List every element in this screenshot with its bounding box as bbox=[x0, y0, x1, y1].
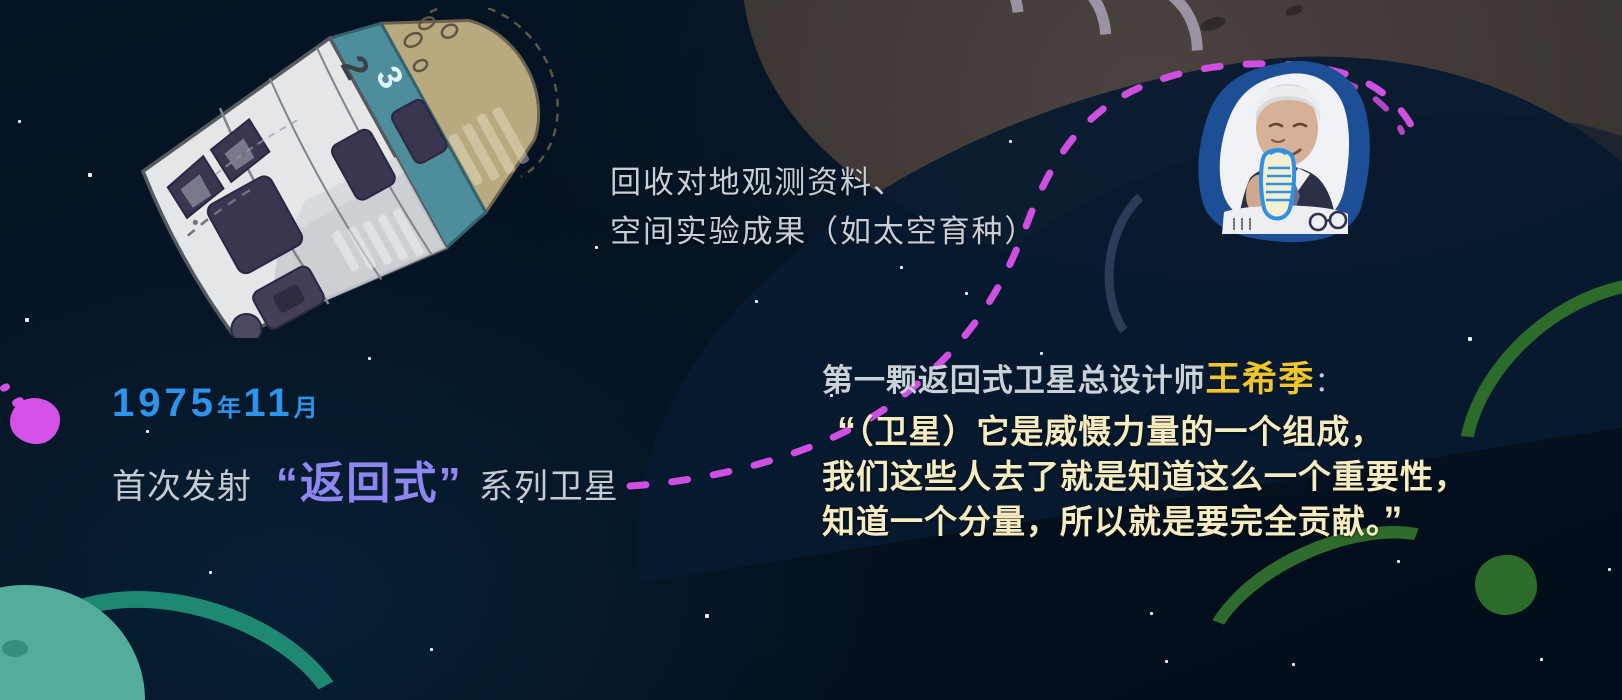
star bbox=[430, 648, 433, 651]
quote-line-3: 知道一个分量，所以就是要完全贡献。” bbox=[822, 495, 1403, 543]
portrait-wang-xiji bbox=[1190, 56, 1380, 246]
event-quote-open: “ bbox=[276, 459, 300, 508]
star bbox=[1608, 568, 1611, 571]
quote-line-2: 我们这些人去了就是知道这么一个重要性， bbox=[822, 450, 1468, 498]
credit-name: 王希季 bbox=[1206, 360, 1315, 399]
star bbox=[965, 292, 968, 295]
star bbox=[1540, 658, 1543, 661]
timeline-year-unit: 年 bbox=[217, 395, 243, 422]
timeline-date: 1975年11月 bbox=[112, 381, 320, 426]
star bbox=[1009, 140, 1012, 143]
star bbox=[595, 246, 598, 249]
star bbox=[1468, 337, 1472, 341]
event-prefix: 首次发射 bbox=[112, 468, 252, 506]
event-quote-close: ” bbox=[439, 459, 463, 508]
quote-open-mark: “ bbox=[837, 410, 857, 452]
magenta-planet bbox=[10, 398, 60, 444]
quote-line-3-text: 知道一个分量，所以就是要完全贡献。 bbox=[822, 503, 1383, 540]
event-highlight: 返回式 bbox=[300, 459, 439, 508]
timeline-year: 1975 bbox=[112, 381, 217, 425]
quote-line-1: “（卫星）它是威慑力量的一个组成， bbox=[837, 405, 1384, 453]
timeline-month: 11 bbox=[243, 381, 293, 425]
star bbox=[1165, 660, 1168, 663]
caption-line-1: 回收对地观测资料、 bbox=[610, 157, 906, 202]
event-suffix: 系列卫星 bbox=[479, 468, 619, 506]
star bbox=[18, 120, 21, 123]
timeline-month-unit: 月 bbox=[294, 395, 320, 422]
timeline-event: 首次发射“返回式”系列卫星 bbox=[112, 447, 619, 511]
star bbox=[755, 300, 758, 303]
credit-colon: ： bbox=[1315, 366, 1344, 397]
star bbox=[900, 266, 903, 269]
star bbox=[1150, 612, 1153, 615]
credit-role: 第一颗返回式卫星总设计师 bbox=[822, 363, 1206, 398]
star bbox=[368, 357, 371, 360]
star bbox=[146, 430, 149, 433]
star bbox=[25, 318, 29, 322]
quote-close-mark: ” bbox=[1383, 500, 1403, 542]
teal-planet-spot bbox=[2, 640, 28, 657]
star bbox=[705, 614, 709, 618]
scene-canvas: 3 bbox=[0, 0, 1622, 700]
star bbox=[88, 173, 92, 177]
return-capsule-illustration: 3 bbox=[96, 8, 576, 338]
green-planet bbox=[1475, 555, 1537, 615]
star bbox=[209, 571, 212, 574]
quote-line-1-text: （卫星）它是威慑力量的一个组成， bbox=[857, 413, 1384, 450]
credit-line: 第一颗返回式卫星总设计师王希季： bbox=[822, 351, 1344, 402]
caption-line-2: 空间实验成果（如太空育种） bbox=[610, 206, 1037, 251]
